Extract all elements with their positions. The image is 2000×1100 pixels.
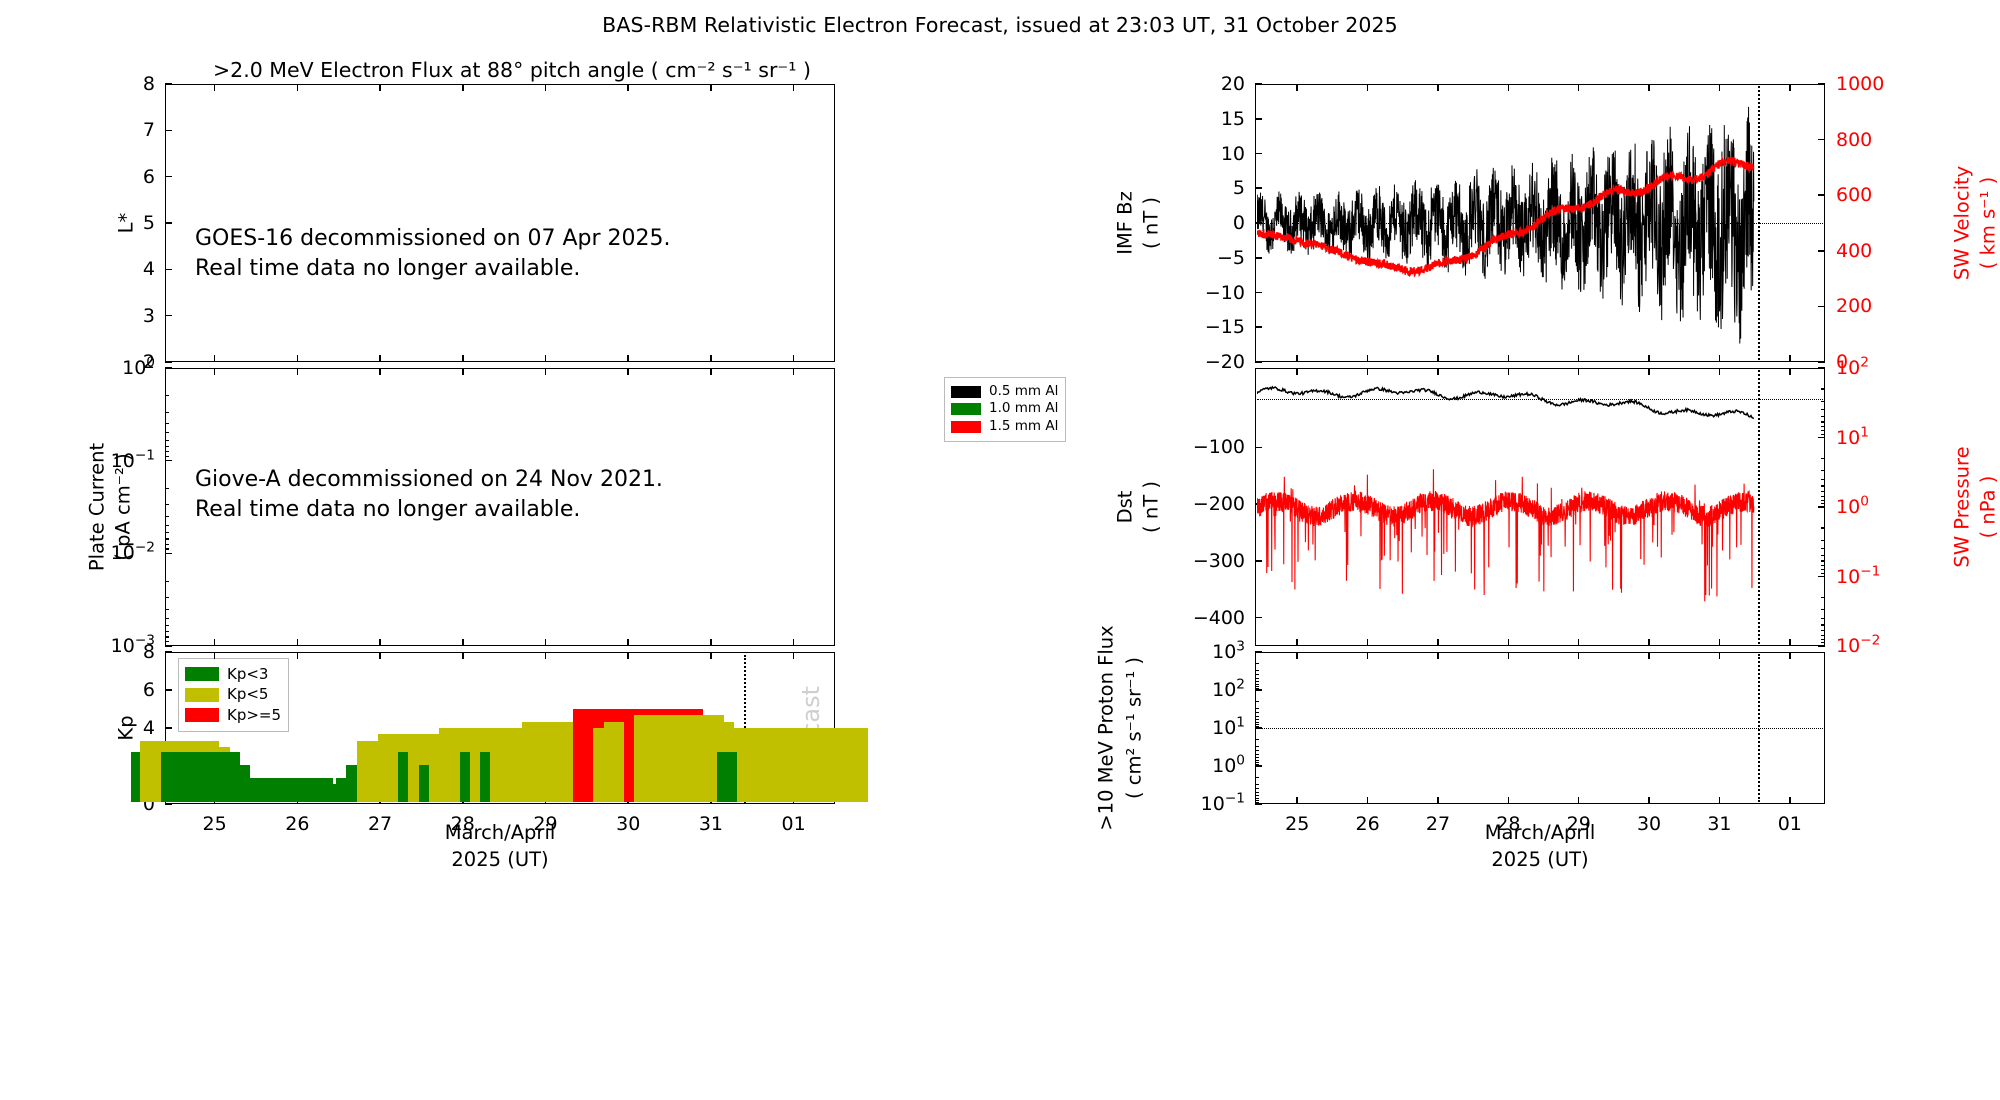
kp-y-tick-label: 8 xyxy=(87,641,155,663)
swpress-y-tick xyxy=(1818,367,1825,369)
legend-plate-row: 1.5 mm Al xyxy=(951,419,1058,435)
plate-y-minor-tick xyxy=(165,451,169,452)
swpress-y-tick-label: 100 xyxy=(1836,496,1916,518)
goes-message-line2: Real time data no longer available. xyxy=(195,256,580,281)
proton-y-tick xyxy=(1255,727,1262,729)
proton-y-minor-tick xyxy=(1255,788,1259,789)
proton-y-minor-tick xyxy=(1255,739,1259,740)
proton-threshold-line xyxy=(1257,728,1823,729)
sw-pressure-trace xyxy=(1257,469,1754,601)
flux-x-tick xyxy=(379,355,381,362)
proton-y-minor-tick xyxy=(1255,701,1259,702)
legend-plate-row: 0.5 mm Al xyxy=(951,384,1058,400)
proton-x-tick-top xyxy=(1648,652,1650,659)
plate-x-tick xyxy=(379,639,381,646)
imfbz-y-tick-label: 0 xyxy=(1177,212,1245,234)
kp-x-tick-label: 28 xyxy=(451,813,475,835)
legend-plate-swatch xyxy=(951,386,981,398)
flux-x-tick xyxy=(462,355,464,362)
kp-x-tick-top xyxy=(710,652,712,659)
imfbz-y-tick-label: −5 xyxy=(1177,247,1245,269)
xaxis-label-left-line2: 2025 (UT) xyxy=(451,848,548,871)
plate-y-minor-tick xyxy=(165,456,169,457)
panel-electron-flux xyxy=(165,84,835,362)
flux-x-tick xyxy=(710,355,712,362)
dst-y-tick-label: −200 xyxy=(1173,493,1245,515)
imf-traces xyxy=(1257,86,1824,361)
kp-x-tick-top xyxy=(214,652,216,659)
plate-y-tick xyxy=(165,460,172,462)
proton-x-tick-top xyxy=(1578,652,1580,659)
proton-y-tick-label: 103 xyxy=(1173,641,1245,663)
proton-y-tick xyxy=(1255,689,1262,691)
legend-plate-row: 1.0 mm Al xyxy=(951,401,1058,417)
legend-kp-label: Kp<3 xyxy=(227,667,268,682)
lstar-y-tick xyxy=(165,269,172,271)
plate-y-minor-tick xyxy=(165,412,169,413)
kp-x-tick-top xyxy=(462,652,464,659)
imfbz-y-tick-label: −15 xyxy=(1177,316,1245,338)
legend-kp-label: Kp<5 xyxy=(227,687,268,702)
proton-x-tick-label: 25 xyxy=(1285,813,1309,835)
proton-x-tick xyxy=(1578,797,1580,804)
plate-y-minor-tick xyxy=(165,525,169,526)
legend-plate-label: 0.5 mm Al xyxy=(989,385,1058,399)
swpress-y-tick-label: 102 xyxy=(1836,357,1916,379)
plate-y-tick-label: 10−2 xyxy=(83,542,155,564)
proton-x-tick-label: 31 xyxy=(1707,813,1731,835)
swvel-y-tick-label: 200 xyxy=(1836,295,1916,317)
kp-x-tick-top xyxy=(627,652,629,659)
swpress-y-tick-label: 10−1 xyxy=(1836,566,1916,588)
plate-x-tick-top xyxy=(379,368,381,375)
legend-plate-current[interactable]: 0.5 mm Al1.0 mm Al1.5 mm Al xyxy=(944,377,1066,442)
legend-plate-swatch xyxy=(951,421,981,433)
kp-x-tick-label: 29 xyxy=(533,813,557,835)
kp-y-tick-label: 4 xyxy=(87,717,155,739)
plate-y-minor-tick xyxy=(165,548,169,549)
legend-kp-label: Kp>=5 xyxy=(227,708,281,723)
dst-y-tick-label: −100 xyxy=(1173,436,1245,458)
lstar-y-tick-label: 7 xyxy=(87,119,155,141)
plate-y-minor-tick xyxy=(165,532,169,533)
plate-y-tick xyxy=(165,367,172,369)
flux-x-tick-top xyxy=(710,84,712,91)
imfbz-y-tick-label: 20 xyxy=(1177,73,1245,95)
plate-y-minor-tick xyxy=(165,432,169,433)
flux-x-tick-top xyxy=(214,84,216,91)
imfbz-y-tick-label: 10 xyxy=(1177,143,1245,165)
kp-y-tick xyxy=(165,689,172,691)
plate-x-tick-top xyxy=(297,368,299,375)
proton-y-minor-tick xyxy=(1255,792,1259,793)
dst-y-tick-label: −400 xyxy=(1173,607,1245,629)
proton-x-tick-top xyxy=(1508,652,1510,659)
proton-y-minor-tick xyxy=(1255,757,1259,758)
swvel-y-tick-label: 400 xyxy=(1836,240,1916,262)
plate-y-minor-tick xyxy=(165,581,169,582)
proton-y-minor-tick xyxy=(1255,674,1259,675)
proton-y-minor-tick xyxy=(1255,663,1259,664)
plate-y-minor-tick xyxy=(165,609,169,610)
proton-x-tick-label: 30 xyxy=(1637,813,1661,835)
kp-x-tick-top xyxy=(297,652,299,659)
forecast-divider-proton xyxy=(1758,654,1760,802)
plate-x-tick-top xyxy=(710,368,712,375)
kp-x-tick-top xyxy=(379,652,381,659)
giove-message-line1: Giove-A decommissioned on 24 Nov 2021. xyxy=(195,467,663,492)
swvel-y-tick xyxy=(1818,361,1825,363)
proton-y-tick xyxy=(1255,651,1262,653)
axis-label-proton-flux-units: ( cm² s⁻¹ sr⁻¹ ) xyxy=(1123,657,1146,799)
imfbz-y-tick-label: 5 xyxy=(1177,177,1245,199)
swpress-y-tick-label: 101 xyxy=(1836,427,1916,449)
lstar-y-tick-label: 4 xyxy=(87,258,155,280)
proton-y-minor-tick xyxy=(1255,784,1259,785)
plate-x-tick xyxy=(462,639,464,646)
proton-y-tick-label: 100 xyxy=(1173,755,1245,777)
proton-x-tick-label: 28 xyxy=(1496,813,1520,835)
plate-x-tick-top xyxy=(793,368,795,375)
axis-label-dst: Dst xyxy=(1114,491,1137,524)
proton-y-minor-tick xyxy=(1255,716,1259,717)
swvel-y-tick-label: 800 xyxy=(1836,129,1916,151)
plate-x-tick-top xyxy=(545,368,547,375)
imfbz-y-tick xyxy=(1255,83,1262,85)
giove-message-line2: Real time data no longer available. xyxy=(195,497,580,522)
lstar-y-tick xyxy=(165,83,172,85)
proton-x-tick xyxy=(1648,797,1650,804)
proton-y-minor-tick xyxy=(1255,722,1259,723)
plate-y-minor-tick xyxy=(165,516,169,517)
lstar-y-tick xyxy=(165,222,172,224)
proton-y-minor-tick xyxy=(1255,760,1259,761)
plate-y-minor-tick xyxy=(165,641,169,642)
legend-kp-row: Kp>=5 xyxy=(185,706,281,725)
figure-title: BAS-RBM Relativistic Electron Forecast, … xyxy=(0,13,2000,37)
swpress-y-tick-label: 10−2 xyxy=(1836,635,1916,657)
kp-x-tick-label: 31 xyxy=(699,813,723,835)
legend-plate-label: 1.5 mm Al xyxy=(989,420,1058,434)
axis-label-dst-units: ( nT ) xyxy=(1140,481,1163,533)
plate-y-tick xyxy=(165,553,172,555)
imfbz-y-tick xyxy=(1255,361,1262,363)
plate-x-tick xyxy=(710,639,712,646)
dst-y-tick-label: −300 xyxy=(1173,550,1245,572)
axis-label-imf-bz-units: ( nT ) xyxy=(1140,197,1163,249)
proton-x-tick-top xyxy=(1437,652,1439,659)
kp-x-tick-label: 26 xyxy=(285,813,309,835)
lstar-y-tick-label: 6 xyxy=(87,166,155,188)
dst-traces xyxy=(1257,370,1824,645)
proton-y-minor-tick xyxy=(1255,670,1259,671)
lstar-y-tick xyxy=(165,361,172,363)
plate-y-minor-tick xyxy=(165,538,169,539)
legend-plate-label: 1.0 mm Al xyxy=(989,402,1058,416)
plate-y-minor-tick xyxy=(165,504,169,505)
kp-x-tick-label: 30 xyxy=(616,813,640,835)
lstar-y-tick xyxy=(165,176,172,178)
kp-y-tick xyxy=(165,803,172,805)
proton-y-minor-tick xyxy=(1255,795,1259,796)
flux-x-tick-top xyxy=(462,84,464,91)
plate-y-minor-tick xyxy=(165,631,169,632)
proton-y-minor-tick xyxy=(1255,708,1259,709)
proton-y-minor-tick xyxy=(1255,712,1259,713)
kp-x-tick-label: 25 xyxy=(203,813,227,835)
proton-x-tick-top xyxy=(1367,652,1369,659)
proton-y-minor-tick xyxy=(1255,719,1259,720)
flux-x-tick xyxy=(793,355,795,362)
proton-x-tick xyxy=(1367,797,1369,804)
proton-y-tick xyxy=(1255,765,1262,767)
swpress-y-tick xyxy=(1818,645,1825,647)
proton-y-minor-tick xyxy=(1255,678,1259,679)
flux-x-tick-top xyxy=(545,84,547,91)
swvel-y-tick-label: 1000 xyxy=(1836,73,1916,95)
goes-message-line1: GOES-16 decommissioned on 07 Apr 2025. xyxy=(195,226,671,251)
flux-x-tick-top xyxy=(379,84,381,91)
legend-plate-swatch xyxy=(951,403,981,415)
xaxis-label-right-line2: 2025 (UT) xyxy=(1491,848,1588,871)
proton-x-tick-label: 27 xyxy=(1426,813,1450,835)
electron-flux-subtitle: >2.0 MeV Electron Flux at 88° pitch angl… xyxy=(213,58,811,82)
axis-label-sw-pressure-units: ( nPa ) xyxy=(1977,476,2000,539)
flux-x-tick-top xyxy=(793,84,795,91)
proton-y-minor-tick xyxy=(1255,754,1259,755)
lstar-y-tick-label: 8 xyxy=(87,73,155,95)
proton-y-minor-tick xyxy=(1255,777,1259,778)
plate-y-minor-tick xyxy=(165,544,169,545)
proton-y-tick-label: 10−1 xyxy=(1173,793,1245,815)
legend-kp-row: Kp<3 xyxy=(185,665,281,684)
plate-x-tick-top xyxy=(627,368,629,375)
kp-x-tick-label: 01 xyxy=(782,813,806,835)
plate-x-tick xyxy=(627,639,629,646)
proton-x-tick xyxy=(1789,797,1791,804)
dst-trace xyxy=(1257,386,1754,418)
plate-y-minor-tick xyxy=(165,625,169,626)
proton-y-tick-label: 101 xyxy=(1173,717,1245,739)
proton-x-tick-top xyxy=(1296,652,1298,659)
proton-x-tick-label: 01 xyxy=(1778,813,1802,835)
proton-x-tick xyxy=(1437,797,1439,804)
plate-y-minor-tick xyxy=(165,440,169,441)
kp-y-tick xyxy=(165,651,172,653)
flux-x-tick xyxy=(214,355,216,362)
plate-x-tick xyxy=(545,639,547,646)
proton-y-tick xyxy=(1255,803,1262,805)
proton-x-tick-label: 26 xyxy=(1355,813,1379,835)
plate-y-minor-tick xyxy=(165,597,169,598)
imf-bz-trace xyxy=(1257,106,1754,343)
lstar-y-tick-label: 3 xyxy=(87,305,155,327)
kp-x-tick-top xyxy=(545,652,547,659)
proton-x-tick xyxy=(1296,797,1298,804)
proton-y-minor-tick xyxy=(1255,750,1259,751)
plate-x-tick xyxy=(793,639,795,646)
goes-decommission-message: GOES-16 decommissioned on 07 Apr 2025. R… xyxy=(195,224,671,283)
axis-label-sw-velocity-units: ( km s⁻¹ ) xyxy=(1977,177,2000,269)
plate-x-tick-top xyxy=(462,368,464,375)
plate-y-tick-label: 100 xyxy=(83,357,155,379)
giove-decommission-message: Giove-A decommissioned on 24 Nov 2021. R… xyxy=(195,465,663,524)
proton-x-tick-top xyxy=(1719,652,1721,659)
flux-x-tick xyxy=(545,355,547,362)
proton-y-minor-tick xyxy=(1255,684,1259,685)
swvel-y-tick-label: 600 xyxy=(1836,184,1916,206)
flux-x-tick xyxy=(297,355,299,362)
imfbz-y-tick-label: −20 xyxy=(1177,351,1245,373)
legend-kp-swatch xyxy=(185,708,219,722)
kp-y-tick-label: 6 xyxy=(87,679,155,701)
plate-y-minor-tick xyxy=(165,446,169,447)
legend-kp-row: Kp<5 xyxy=(185,685,281,704)
imfbz-y-tick-label: 15 xyxy=(1177,108,1245,130)
plate-x-tick xyxy=(297,639,299,646)
proton-y-minor-tick xyxy=(1255,746,1259,747)
kp-x-tick-label: 27 xyxy=(368,813,392,835)
legend-kp-swatch xyxy=(185,667,219,681)
legend-kp-swatch xyxy=(185,688,219,702)
proton-x-tick-label: 29 xyxy=(1567,813,1591,835)
plate-y-minor-tick xyxy=(165,423,169,424)
proton-x-tick-top xyxy=(1789,652,1791,659)
kp-bar xyxy=(789,728,868,802)
imfbz-y-tick-label: −10 xyxy=(1177,282,1245,304)
plate-y-tick-label: 10−1 xyxy=(83,450,155,472)
flux-x-tick xyxy=(627,355,629,362)
plate-x-tick xyxy=(214,639,216,646)
lstar-y-tick xyxy=(165,315,172,317)
proton-y-minor-tick xyxy=(1255,681,1259,682)
figure-canvas: BAS-RBM Relativistic Electron Forecast, … xyxy=(0,0,2000,1100)
plate-y-tick xyxy=(165,645,172,647)
swvel-y-tick xyxy=(1818,83,1825,85)
plate-y-minor-tick xyxy=(165,636,169,637)
proton-y-tick-label: 102 xyxy=(1173,679,1245,701)
axis-label-imf-bz: IMF Bz xyxy=(1114,191,1137,255)
kp-x-tick-top xyxy=(793,652,795,659)
plate-x-tick-top xyxy=(214,368,216,375)
axis-label-sw-pressure: SW Pressure xyxy=(1951,446,1974,567)
proton-x-tick xyxy=(1719,797,1721,804)
proton-y-minor-tick xyxy=(1255,798,1259,799)
flux-x-tick-top xyxy=(297,84,299,91)
legend-kp[interactable]: Kp<3Kp<5Kp>=5 xyxy=(178,658,289,732)
plate-y-minor-tick xyxy=(165,618,169,619)
lstar-y-tick xyxy=(165,130,172,132)
axis-label-sw-velocity: SW Velocity xyxy=(1951,166,1974,280)
plate-y-minor-tick xyxy=(165,395,169,396)
axis-label-proton-flux: >10 MeV Proton Flux xyxy=(1095,625,1118,830)
flux-x-tick-top xyxy=(627,84,629,91)
lstar-y-tick-label: 5 xyxy=(87,212,155,234)
kp-y-tick xyxy=(165,727,172,729)
proton-x-tick xyxy=(1508,797,1510,804)
plate-y-minor-tick xyxy=(165,488,169,489)
